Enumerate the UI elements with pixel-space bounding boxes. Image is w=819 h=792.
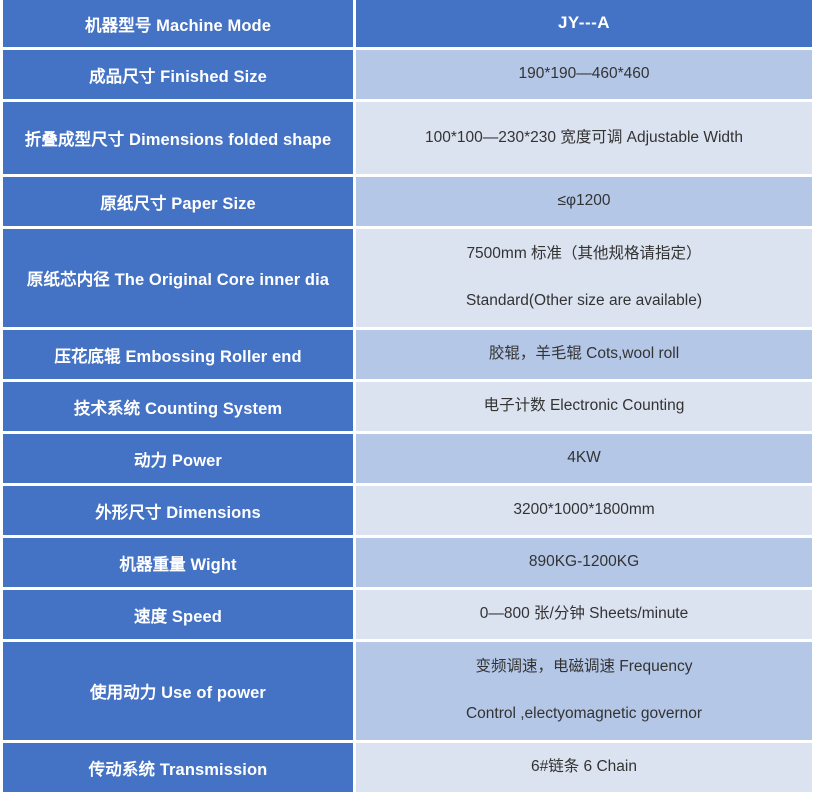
table-row: 原纸芯内径 The Original Core inner dia7500mm … (3, 229, 812, 327)
table-row: 成品尺寸 Finished Size190*190—460*460 (3, 50, 812, 99)
header-value-cell: JY---A (356, 0, 812, 47)
spec-value-cell: 4KW (356, 434, 812, 483)
spec-label-cell: 外形尺寸 Dimensions (3, 486, 353, 535)
spec-value-line: Standard(Other size are available) (466, 291, 702, 312)
spec-value-line: JY---A (558, 12, 610, 35)
spec-value-line: 3200*1000*1800mm (513, 500, 654, 521)
spec-label-cell: 原纸芯内径 The Original Core inner dia (3, 229, 353, 327)
spec-value-line: 100*100—230*230 宽度可调 Adjustable Width (425, 128, 743, 149)
header-label-cell: 机器型号 Machine Mode (3, 0, 353, 47)
spec-label-cell: 动力 Power (3, 434, 353, 483)
table-row: 外形尺寸 Dimensions3200*1000*1800mm (3, 486, 812, 535)
spec-value-line: 0—800 张/分钟 Sheets/minute (480, 604, 689, 625)
spec-label-cell: 压花底辊 Embossing Roller end (3, 330, 353, 379)
spec-value-line: Control ,electyomagnetic governor (466, 704, 702, 725)
table-header-row: 机器型号 Machine ModeJY---A (3, 0, 812, 47)
spec-value-line: 190*190—460*460 (518, 64, 649, 85)
table-row: 原纸尺寸 Paper Size≤φ1200 (3, 177, 812, 226)
spec-label-cell: 技术系统 Counting System (3, 382, 353, 431)
spec-value-cell: 胶辊，羊毛辊 Cots,wool roll (356, 330, 812, 379)
spec-value-cell: 7500mm 标准（其他规格请指定）Standard(Other size ar… (356, 229, 812, 327)
table-row: 传动系统 Transmission6#链条 6 Chain (3, 743, 812, 792)
spec-label-cell: 使用动力 Use of power (3, 642, 353, 740)
spec-label-cell: 原纸尺寸 Paper Size (3, 177, 353, 226)
spec-value-cell: ≤φ1200 (356, 177, 812, 226)
spec-value-cell: 电子计数 Electronic Counting (356, 382, 812, 431)
table-row: 折叠成型尺寸 Dimensions folded shape100*100—23… (3, 102, 812, 174)
table-row: 机器重量 Wight890KG-1200KG (3, 538, 812, 587)
table-row: 动力 Power4KW (3, 434, 812, 483)
spec-label-cell: 机器重量 Wight (3, 538, 353, 587)
table-row: 速度 Speed0—800 张/分钟 Sheets/minute (3, 590, 812, 639)
spec-label-cell: 速度 Speed (3, 590, 353, 639)
spec-value-cell: 100*100—230*230 宽度可调 Adjustable Width (356, 102, 812, 174)
table-row: 使用动力 Use of power变频调速，电磁调速 FrequencyCont… (3, 642, 812, 740)
spec-value-line: 胶辊，羊毛辊 Cots,wool roll (489, 344, 679, 365)
spec-value-cell: 变频调速，电磁调速 FrequencyControl ,electyomagne… (356, 642, 812, 740)
spec-value-line: 4KW (567, 448, 601, 469)
spec-value-cell: 0—800 张/分钟 Sheets/minute (356, 590, 812, 639)
spec-value-cell: 890KG-1200KG (356, 538, 812, 587)
spec-value-line: 890KG-1200KG (529, 552, 639, 573)
spec-value-line: 6#链条 6 Chain (531, 757, 637, 778)
spec-label-cell: 成品尺寸 Finished Size (3, 50, 353, 99)
spec-value-cell: 190*190—460*460 (356, 50, 812, 99)
spec-value-line: 电子计数 Electronic Counting (484, 396, 685, 417)
spec-value-line: 7500mm 标准（其他规格请指定） (466, 244, 701, 265)
spec-value-cell: 3200*1000*1800mm (356, 486, 812, 535)
spec-label-cell: 折叠成型尺寸 Dimensions folded shape (3, 102, 353, 174)
spec-value-line: ≤φ1200 (557, 191, 610, 212)
table-row: 压花底辊 Embossing Roller end胶辊，羊毛辊 Cots,woo… (3, 330, 812, 379)
spec-label-cell: 传动系统 Transmission (3, 743, 353, 792)
spec-value-cell: 6#链条 6 Chain (356, 743, 812, 792)
table-row: 技术系统 Counting System电子计数 Electronic Coun… (3, 382, 812, 431)
spec-value-line: 变频调速，电磁调速 Frequency (475, 657, 692, 678)
machine-specification-table: 机器型号 Machine ModeJY---A成品尺寸 Finished Siz… (0, 0, 819, 783)
